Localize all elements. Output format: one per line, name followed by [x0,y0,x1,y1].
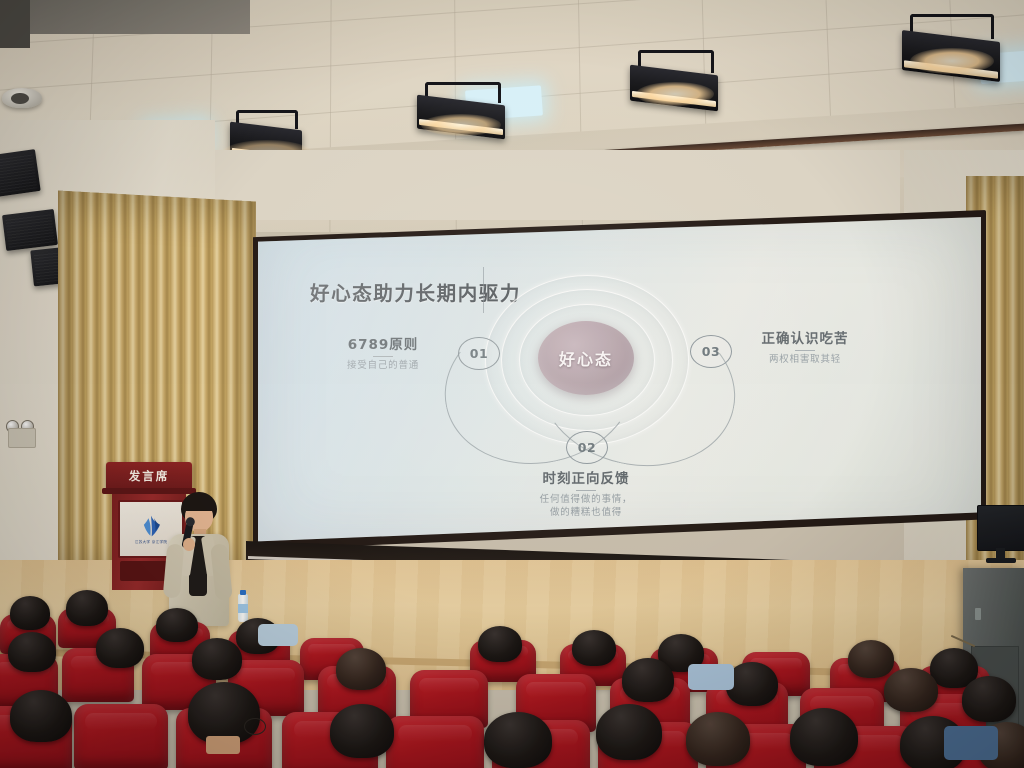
audience-head [884,668,938,712]
monitor-base [986,558,1016,563]
audience-head [686,712,750,766]
node-heading: 6789原则 [318,333,448,353]
label-rule [576,490,596,491]
podium-sign-text: 发言席 [129,468,170,484]
audience-head [156,608,198,642]
slide-label-02: 时刻正向反馈 任何值得做的事情， 做的糟糕也值得 [510,467,662,520]
audience-head [10,596,50,630]
slide-node-02: 02 [566,431,608,464]
node-heading: 时刻正向反馈 [510,467,662,487]
audience-shirt [944,726,998,760]
slide-title: 好心态助力长期内驱力 [310,277,521,306]
screen-surface: 好心态助力长期内驱力 好心态 01 [258,215,981,544]
slide-node-03: 03 [690,335,732,368]
node-heading: 正确认识吃苦 [740,327,870,347]
auditorium-photo: 青 春 筑 梦 践 行 使 命 好心态助力长期内驱力 好心态 [0,0,1024,768]
node-number: 01 [470,346,488,361]
node-number: 03 [702,344,720,359]
slide-label-01: 6789原则 接受自己的普通 [318,333,448,373]
label-rule [795,350,815,351]
slide-node-01: 01 [458,337,500,370]
audience-head [96,628,144,668]
audience-head [962,676,1016,722]
node-sub: 做的糟糕也值得 [510,507,662,520]
audience-head [848,640,894,678]
node-sub: 两权相害取其轻 [740,354,870,367]
audience-head [8,632,56,672]
projection-screen: 好心态助力长期内驱力 好心态 01 [253,210,986,550]
audience-head [596,704,662,760]
audience-shirt [688,664,734,690]
seat [74,704,168,768]
node-number: 02 [578,440,596,455]
audience-head [572,630,616,666]
audience-shirt [258,624,298,646]
audience-head [188,682,260,744]
presentation-slide: 好心态助力长期内驱力 好心态 01 [258,215,981,544]
presenter-hand [183,538,195,551]
connector-stub-top [483,267,486,313]
wall-outlet [8,428,36,448]
audience-neck [206,736,240,754]
ceiling-corner-panel [0,0,30,48]
audience-head [192,638,242,680]
audience-head [10,690,72,742]
node-sub: 接受自己的普通 [318,360,448,373]
audience-head [330,704,394,758]
label-rule [373,356,393,357]
wall-speaker [2,209,58,251]
av-monitor [977,505,1024,551]
node-sub: 任何值得做的事情， [510,494,662,507]
audience-head [478,626,522,662]
university-logo-icon [138,514,164,538]
audience-seating [0,596,1024,768]
audience-glasses [244,718,266,735]
slide-label-03: 正确认识吃苦 两权相害取其轻 [740,327,870,367]
wall-speaker [0,149,41,197]
audience-head [790,708,858,766]
ceiling-dark-panel [0,0,250,34]
presenter-fringe [182,499,216,511]
audience-head [336,648,386,690]
audience-head [622,658,674,702]
audience-head [484,712,552,768]
audience-head [66,590,108,626]
dome-camera [2,88,42,108]
seat [386,716,484,768]
podium-sign: 发言席 [106,462,192,489]
